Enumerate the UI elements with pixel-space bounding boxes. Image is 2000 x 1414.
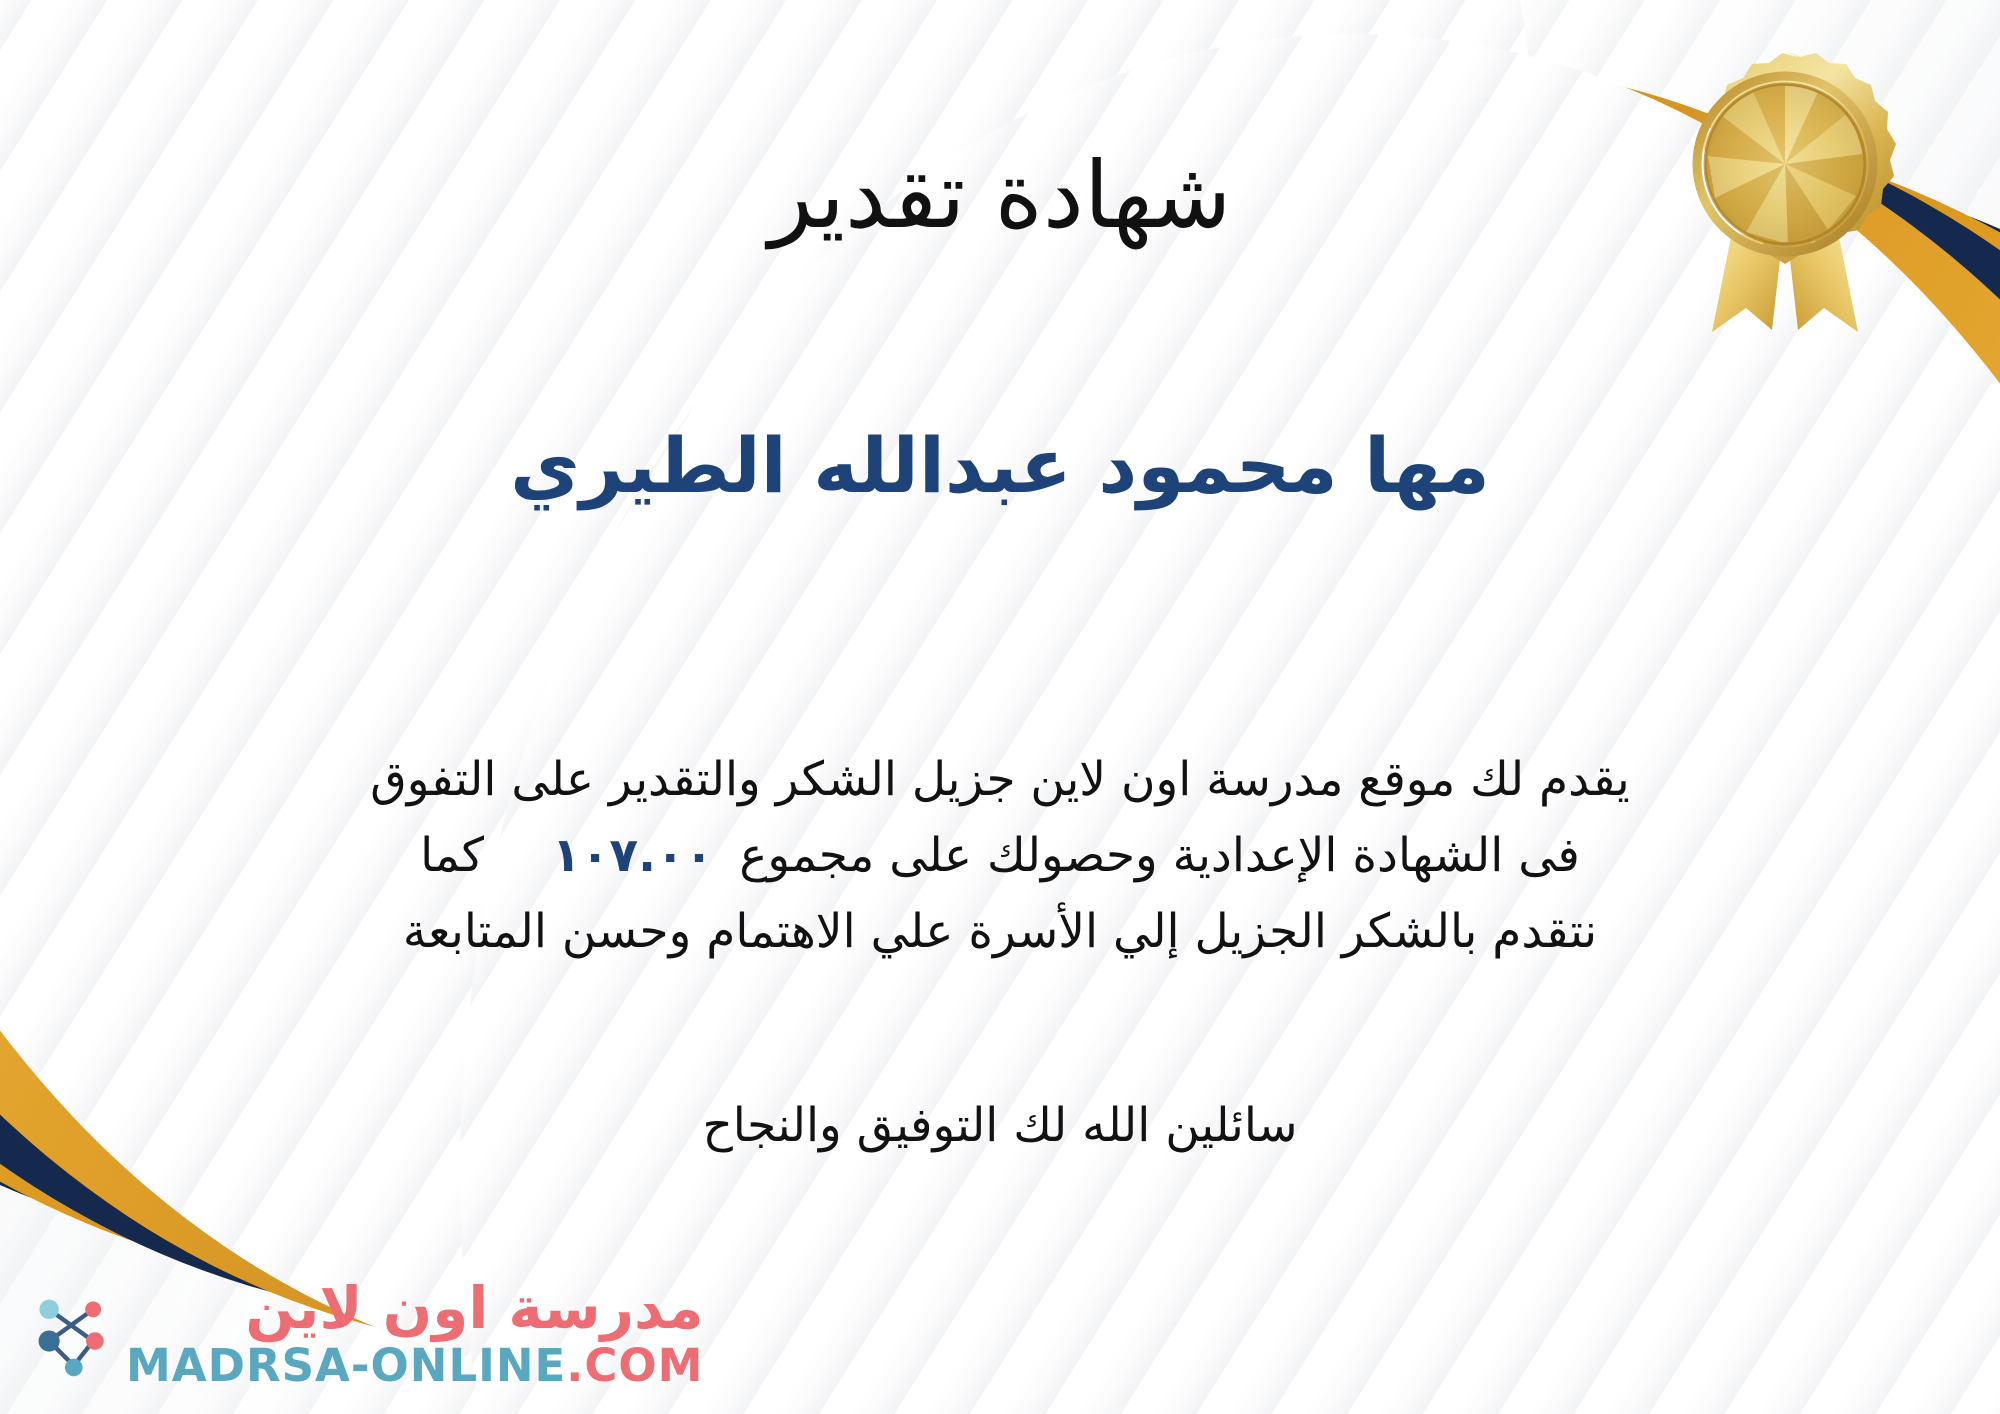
brand-url-primary: MADRSA-ONLINE xyxy=(126,1339,566,1392)
body-line-1: يقدم لك موقع مدرسة اون لاين جزيل الشكر و… xyxy=(120,742,1880,818)
network-nodes-icon xyxy=(28,1290,116,1378)
brand-text-block: مدرسة اون لاين MADRSA-ONLINE.COM xyxy=(126,1279,703,1388)
certificate-body: يقدم لك موقع مدرسة اون لاين جزيل الشكر و… xyxy=(120,742,1880,970)
body-line-2-suffix: كما xyxy=(420,828,484,883)
total-score-value: ١٠٧.٠٠ xyxy=(526,828,739,883)
certificate-canvas: شهادة تقدير مها محمود عبدالله الطيري يقد… xyxy=(0,0,2000,1414)
brand-arabic-name: مدرسة اون لاين xyxy=(245,1279,703,1337)
brand-logo[interactable]: مدرسة اون لاين MADRSA-ONLINE.COM xyxy=(28,1279,703,1388)
brand-url-suffix: .COM xyxy=(566,1339,703,1392)
brand-website-url: MADRSA-ONLINE.COM xyxy=(126,1343,703,1388)
closing-line: سائلين الله لك التوفيق والنجاح xyxy=(0,1098,2000,1153)
gold-award-medal-icon xyxy=(1660,36,1910,336)
body-line-2-prefix: فى الشهادة الإعدادية وحصولك على مجموع xyxy=(739,828,1580,883)
body-line-3: نتقدم بالشكر الجزيل إلي الأسرة علي الاهت… xyxy=(120,894,1880,970)
recipient-name: مها محمود عبدالله الطيري xyxy=(0,418,2000,513)
body-line-2: فى الشهادة الإعدادية وحصولك على مجموع١٠٧… xyxy=(120,818,1880,894)
